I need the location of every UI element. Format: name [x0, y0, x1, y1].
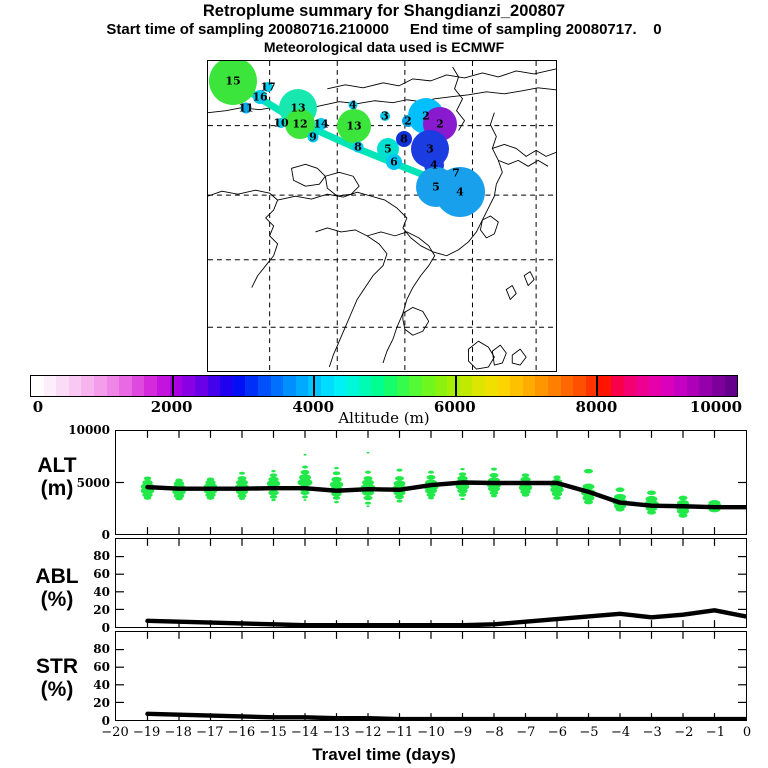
plume-day-label: 14 [313, 119, 328, 130]
x-tick-label: −14 [291, 725, 318, 740]
x-tick-label: −16 [228, 725, 255, 740]
map-gridlines [208, 61, 556, 371]
alt-scatter-point [270, 473, 277, 477]
alt-scatter-point [333, 471, 340, 475]
x-tick-label: −8 [485, 725, 504, 740]
colorbar-swatch [573, 376, 586, 396]
x-tick-label: −4 [611, 725, 630, 740]
alt-scatter-point [679, 513, 688, 518]
alt-scatter-point [428, 496, 434, 499]
str-ytick-marks [116, 650, 746, 703]
plume-day-label: 8 [354, 142, 362, 153]
abl-plot [116, 539, 746, 627]
alt-scatter-point [616, 507, 625, 512]
colorbar-swatch [409, 376, 422, 396]
alt-scatter-point [584, 469, 593, 474]
x-tick-label: −15 [259, 725, 286, 740]
alt-scatter-point [395, 495, 404, 500]
colorbar-swatch [384, 376, 397, 396]
plume-day-label: 10 [273, 118, 288, 129]
colorbar-swatch [397, 376, 410, 396]
alt-scatter-point [490, 473, 499, 478]
plume-day-label: 6 [390, 157, 398, 168]
alt-scatter-point [144, 496, 151, 500]
plume-day-label: 7 [452, 168, 460, 179]
y-tick-label: 0 [50, 621, 110, 635]
sampling-time-subtitle: Start time of sampling 20080716.210000 E… [0, 21, 768, 39]
alt-scatter-point [427, 475, 436, 480]
x-tick-label: −6 [548, 725, 567, 740]
plume-day-label: 2 [422, 111, 430, 122]
colorbar-swatch [144, 376, 157, 396]
alt-scatter-point [333, 496, 340, 500]
alt-scatter-point [460, 468, 464, 470]
plume-day-label: 13 [346, 121, 361, 132]
retroplume-map: 151716111013121491384356282234547 [207, 60, 557, 372]
y-tick-label: 5000 [50, 476, 110, 490]
str-tick-marks [148, 632, 715, 720]
alt-scatter-point [647, 491, 656, 496]
page-title: Retroplume summary for Shangdianzi_20080… [0, 2, 768, 21]
map-basemap [208, 61, 556, 371]
alt-scatter-point [491, 494, 497, 497]
alt-scatter-point [239, 472, 245, 475]
x-tick-label: −11 [386, 725, 413, 740]
plume-day-label: 8 [400, 134, 408, 145]
colorbar-swatch [661, 376, 674, 396]
y-tick-label: 60 [50, 567, 110, 581]
colorbar-separator [455, 375, 457, 397]
str-panel [115, 631, 747, 721]
alt-scatter-point [459, 493, 466, 497]
alt-scatter-point [397, 469, 403, 472]
y-tick-label: 20 [50, 696, 110, 710]
alt-scatter-point [679, 496, 688, 501]
colorbar-swatch [132, 376, 145, 396]
plume-day-label: 11 [238, 103, 253, 114]
y-tick-label: 20 [50, 603, 110, 617]
colorbar-swatch [687, 376, 700, 396]
colorbar-swatch [649, 376, 662, 396]
alt-scatter-point [459, 472, 466, 476]
title-block: Retroplume summary for Shangdianzi_20080… [0, 0, 768, 56]
colorbar-swatch [334, 376, 347, 396]
x-tick-label: −18 [164, 725, 191, 740]
colorbar-swatch [182, 376, 195, 396]
plume-day-label: 2 [436, 119, 444, 130]
x-tick-label: −10 [417, 725, 444, 740]
alt-scatter-point [301, 491, 310, 496]
colorbar-swatch [233, 376, 246, 396]
colorbar-separator [596, 375, 598, 397]
x-tick-label: −20 [101, 725, 128, 740]
colorbar-swatch [208, 376, 221, 396]
plume-day-label: 3 [381, 111, 389, 122]
alt-scatter-point [239, 497, 245, 500]
plume-day-label: 12 [292, 119, 307, 130]
colorbar-swatch [296, 376, 309, 396]
colorbar-swatch [69, 376, 82, 396]
alt-scatter-point [365, 471, 371, 474]
colorbar-swatch [119, 376, 132, 396]
alt-scatter-point [584, 500, 593, 505]
alt-scatter-point [175, 497, 182, 501]
colorbar-swatch [725, 376, 738, 396]
colorbar-swatch [220, 376, 233, 396]
plume-day-label: 13 [290, 103, 305, 114]
colorbar-swatch [699, 376, 712, 396]
x-tick-label: −5 [579, 725, 598, 740]
plume-day-label: 3 [426, 144, 434, 155]
alt-scatter-point [334, 467, 338, 469]
y-tick-label: 40 [50, 678, 110, 692]
colorbar-swatch [460, 376, 473, 396]
met-data-subtitle: Meteorological data used is ECMWF [0, 39, 768, 56]
altitude-colorbar [30, 375, 738, 397]
plume-day-label: 9 [309, 132, 317, 143]
alt-scatter-point [522, 473, 529, 477]
alt-scatter-point [647, 510, 656, 515]
alt-scatter-point [365, 502, 371, 505]
alt-scatter-point [271, 470, 275, 472]
x-tick-label: −3 [643, 725, 662, 740]
alt-scatter-point [302, 495, 308, 498]
alt-scatter-point [144, 476, 151, 480]
alt-scatter-point [364, 496, 373, 501]
plume-day-label: 5 [384, 144, 392, 155]
alt-scatter-point [397, 500, 403, 503]
x-tick-label: −19 [133, 725, 160, 740]
alt-scatter-point [367, 452, 370, 454]
colorbar-swatch [447, 376, 460, 396]
alt-scatter-point [522, 493, 529, 497]
y-tick-label: 80 [50, 642, 110, 656]
colorbar-swatch [561, 376, 574, 396]
x-axis-label: Travel time (days) [0, 745, 768, 765]
y-tick-label: 0 [50, 528, 110, 542]
colorbar-swatch [44, 376, 57, 396]
x-tick-label: −7 [516, 725, 535, 740]
x-tick-label: 0 [743, 725, 751, 740]
colorbar-swatch [359, 376, 372, 396]
colorbar-swatch [195, 376, 208, 396]
alt-scatter-point [334, 501, 338, 503]
colorbar-swatch [81, 376, 94, 396]
colorbar-swatch [611, 376, 624, 396]
retroplume-summary-figure: Retroplume summary for Shangdianzi_20080… [0, 0, 768, 768]
colorbar-swatch [321, 376, 334, 396]
colorbar-swatch [107, 376, 120, 396]
plume-day-label: 4 [456, 187, 464, 198]
y-tick-label: 40 [50, 585, 110, 599]
y-tick-label: 10000 [50, 423, 110, 437]
x-tick-label: −1 [706, 725, 725, 740]
x-tick-label: −2 [674, 725, 693, 740]
colorbar-title: Altitude (m) [0, 409, 768, 427]
colorbar-swatch [535, 376, 548, 396]
colorbar-separator [313, 375, 315, 397]
plume-day-label: 4 [349, 100, 357, 111]
alt-scatter-point [395, 476, 404, 481]
x-tick-label: −9 [453, 725, 472, 740]
plume-day-label: 5 [432, 182, 440, 193]
alt-scatter-point [301, 470, 310, 475]
abl-line [148, 610, 747, 625]
colorbar-swatch [510, 376, 523, 396]
colorbar-swatch [548, 376, 561, 396]
alt-scatter-point [553, 475, 560, 479]
abl-ytick-marks [116, 557, 746, 610]
colorbar-swatch [422, 376, 435, 396]
alt-scatter-point [304, 499, 307, 501]
alt-panel [115, 430, 747, 535]
colorbar-swatch [485, 376, 498, 396]
colorbar-swatch [523, 376, 536, 396]
colorbar-swatch [674, 376, 687, 396]
colorbar-swatch [56, 376, 69, 396]
colorbar-swatch [245, 376, 258, 396]
plume-day-label: 16 [252, 92, 267, 103]
alt-scatter-point [460, 498, 464, 500]
alt-scatter-point [268, 490, 278, 495]
alt-scatter-point [428, 471, 434, 474]
alt-plot [116, 431, 746, 534]
colorbar-swatch [31, 376, 44, 396]
alt-scatter-point [298, 479, 313, 487]
alt-scatter-point [491, 468, 497, 471]
y-tick-label: 60 [50, 660, 110, 674]
colorbar-swatch [258, 376, 271, 396]
colorbar-swatch [498, 376, 511, 396]
alt-scatter-point [271, 499, 275, 501]
alt-scatter-point [304, 454, 307, 456]
alt-scatter-point [552, 491, 562, 496]
str-line [148, 714, 747, 719]
str-plot [116, 632, 746, 720]
x-tick-label: −12 [354, 725, 381, 740]
alt-scatter-point [270, 495, 277, 499]
abl-panel [115, 538, 747, 628]
alt-scatter-point [553, 496, 560, 500]
colorbar-swatch [598, 376, 611, 396]
plume-day-label: 2 [404, 116, 412, 127]
alt-scatter-point [302, 466, 308, 469]
colorbar-swatch [271, 376, 284, 396]
colorbar-swatch [624, 376, 637, 396]
colorbar-separator [172, 375, 174, 397]
plume-day-label: 4 [430, 160, 438, 171]
colorbar-swatch [712, 376, 725, 396]
colorbar-swatch [157, 376, 170, 396]
colorbar-swatch [283, 376, 296, 396]
colorbar-swatch [371, 376, 384, 396]
alt-label-line1: ALT [8, 454, 106, 477]
plume-day-label: 15 [225, 76, 240, 87]
alt-scatter-point [367, 505, 370, 507]
alt-scatter-point [616, 487, 625, 492]
colorbar-swatch [346, 376, 359, 396]
colorbar-swatch [472, 376, 485, 396]
x-tick-label: −17 [196, 725, 223, 740]
alt-scatter-point [207, 496, 214, 500]
x-tick-label: −13 [322, 725, 349, 740]
colorbar-swatch [94, 376, 107, 396]
colorbar-swatch [636, 376, 649, 396]
alt-scatter-point [457, 488, 467, 493]
y-tick-label: 80 [50, 549, 110, 563]
colorbar-swatch [435, 376, 448, 396]
